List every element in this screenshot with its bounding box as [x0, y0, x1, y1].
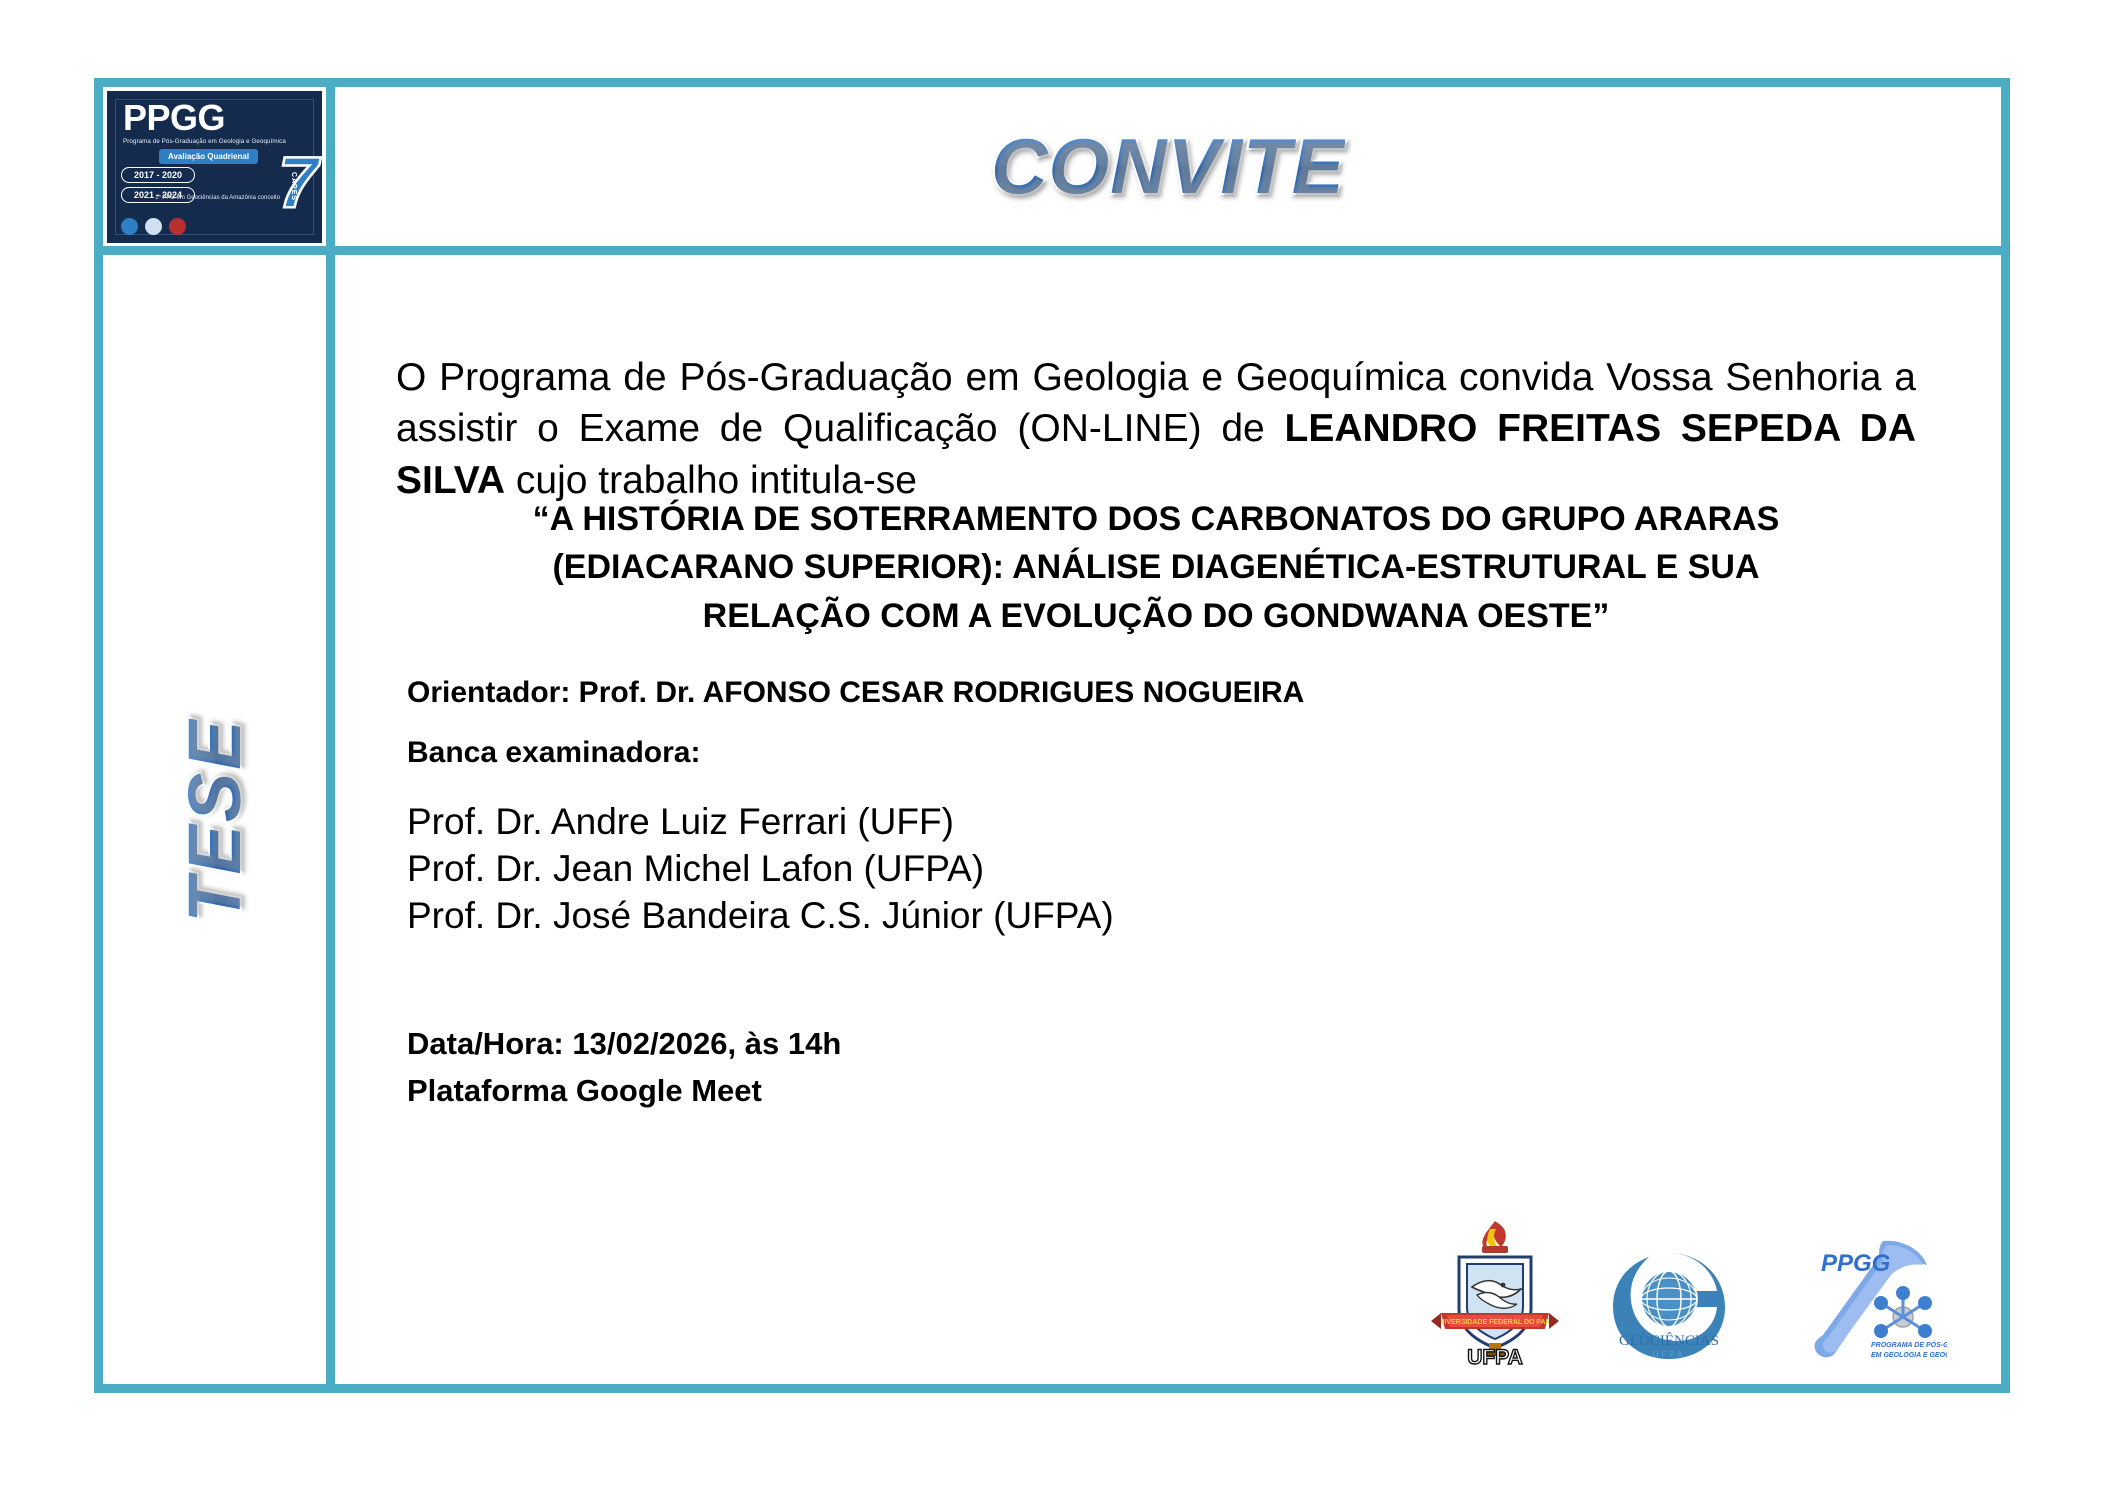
thesis-title: “A HISTÓRIA DE SOTERRAMENTO DOS CARBONAT…	[396, 495, 1916, 640]
committee-list: Prof. Dr. Andre Luiz Ferrari (UFF) Prof.…	[407, 799, 1114, 940]
ppgg-footer-subtitle-2: EM GEOLOGIA E GEOQUÍMICA	[1871, 1350, 1947, 1359]
ufpa-logo: UNIVERSIDADE FEDERAL DO PARÁ UFPA	[1427, 1217, 1563, 1370]
schedule-platform: Plataforma Google Meet	[407, 1067, 841, 1114]
geociencias-globe-icon: GEOCIÊNCIAS UFPA	[1595, 1247, 1743, 1365]
convite-title: CONVITE CONVITE	[991, 121, 1345, 212]
geociencias-subtitle: UFPA	[1653, 1350, 1686, 1359]
poster-header: PPGG Programa de Pós-Graduação em Geolog…	[103, 87, 2001, 255]
intro-paragraph: O Programa de Pós-Graduação em Geologia …	[396, 352, 1916, 506]
invitation-poster: PPGG Programa de Pós-Graduação em Geolog…	[94, 78, 2010, 1393]
thesis-title-line-3: RELAÇÃO COM A EVOLUÇÃO DO GONDWANA OESTE…	[396, 592, 1916, 640]
svg-text:UNIVERSIDADE FEDERAL DO PARÁ: UNIVERSIDADE FEDERAL DO PARÁ	[1434, 1317, 1555, 1326]
poster-body: TESE TESE O Programa de Pós-Graduação em…	[103, 255, 2001, 1384]
badge-capes-label: CAPES	[290, 171, 297, 200]
ppgg-capes-badge-cell: PPGG Programa de Pós-Graduação em Geolog…	[103, 87, 335, 246]
ufpa-coat-of-arms-icon: UNIVERSIDADE FEDERAL DO PARÁ UFPA	[1427, 1217, 1563, 1365]
ppgg-capes-badge: PPGG Programa de Pós-Graduação em Geolog…	[107, 91, 322, 243]
geociencias-wordmark: GEOCIÊNCIAS	[1619, 1332, 1719, 1349]
thesis-title-line-1: “A HISTÓRIA DE SOTERRAMENTO DOS CARBONAT…	[396, 495, 1916, 543]
tese-label-wrap: TESE TESE	[103, 777, 326, 862]
thesis-type-sidebar: TESE TESE	[103, 255, 335, 1384]
committee-label: Banca examinadora:	[407, 736, 700, 770]
badge-period-2017-2020: 2017 - 2020	[121, 167, 195, 183]
poster-title-cell: CONVITE CONVITE	[335, 87, 2001, 246]
tese-label-fill: TESE	[173, 717, 256, 922]
tese-label: TESE TESE	[172, 717, 257, 922]
crest-icon	[169, 218, 186, 235]
thesis-title-line-2: (EDIACARANO SUPERIOR): ANÁLISE DIAGENÉTI…	[396, 543, 1916, 591]
advisor-line: Orientador: Prof. Dr. AFONSO CESAR RODRI…	[407, 676, 1304, 710]
badge-subtitle: Programa de Pós-Graduação em Geologia e …	[123, 138, 286, 145]
ufpa-wordmark: UFPA	[1467, 1346, 1523, 1365]
ppgg-footer-wordmark: PPGG	[1821, 1250, 1890, 1277]
schedule-datetime: Data/Hora: 13/02/2026, às 14h	[407, 1020, 841, 1067]
list-item: Prof. Dr. Jean Michel Lafon (UFPA)	[407, 846, 1114, 893]
badge-note: 1º PPG em Geociências da Amazônia concei…	[155, 195, 280, 203]
schedule-block: Data/Hora: 13/02/2026, às 14h Plataforma…	[407, 1020, 841, 1114]
poster-content: O Programa de Pós-Graduação em Geologia …	[335, 255, 2001, 1384]
badge-grade-7: 7	[278, 147, 318, 219]
globe-icon	[145, 218, 162, 235]
list-item: Prof. Dr. José Bandeira C.S. Júnior (UFP…	[407, 893, 1114, 940]
badge-evaluation-pill: Avaliação Quadrienal	[159, 149, 258, 164]
badge-icon-row	[121, 218, 186, 235]
convite-title-fill: CONVITE	[991, 122, 1345, 210]
ppgg-footer-logo: PPGG PROGRAMA DE PÓS-GRADUAÇÃO EM GEOLOG…	[1775, 1235, 1947, 1370]
geociencias-logo: GEOCIÊNCIAS UFPA	[1595, 1247, 1743, 1370]
ufpa-seal-icon	[121, 218, 138, 235]
badge-acronym: PPGG	[123, 100, 225, 136]
footer-logo-row: UNIVERSIDADE FEDERAL DO PARÁ UFPA	[1427, 1217, 1947, 1370]
ppgg-hammer-molecule-icon: PPGG PROGRAMA DE PÓS-GRADUAÇÃO EM GEOLOG…	[1775, 1235, 1947, 1365]
ppgg-footer-subtitle-1: PROGRAMA DE PÓS-GRADUAÇÃO	[1871, 1340, 1947, 1349]
list-item: Prof. Dr. Andre Luiz Ferrari (UFF)	[407, 799, 1114, 846]
